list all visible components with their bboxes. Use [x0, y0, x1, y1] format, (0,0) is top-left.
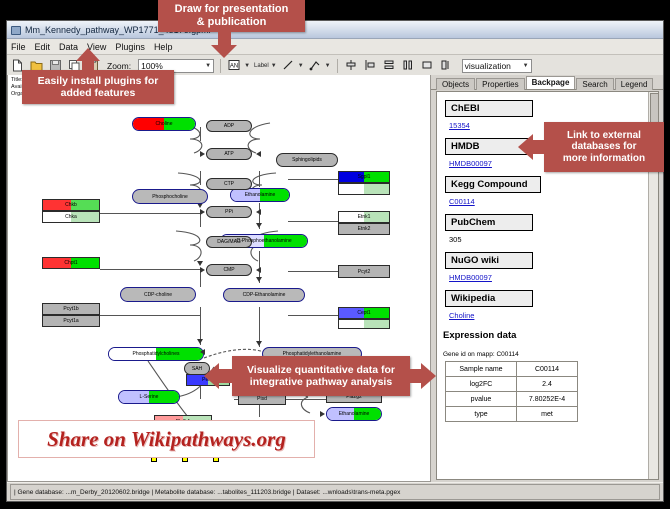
- gene-label: Pcyt1a: [63, 318, 78, 324]
- callout-line: more information: [563, 153, 645, 165]
- callout-line: added features: [61, 87, 136, 99]
- node-label: PPi: [225, 209, 233, 215]
- gene-box-chpt1[interactable]: Chpt1: [42, 257, 100, 269]
- node-l-serine-left[interactable]: L-Serine: [118, 390, 180, 404]
- node-cdp-ethanolamine[interactable]: CDP-Ethanolamine: [223, 288, 305, 302]
- node-ethanolamine-bottom[interactable]: Ethanolamine: [326, 407, 382, 421]
- db-header-nugo: NuGO wiki: [445, 252, 533, 269]
- toolbar-separator: [220, 59, 221, 73]
- node-label: O-Phosphoethanolamine: [236, 238, 291, 244]
- gene-box-pcyt1b[interactable]: Pcyt1b: [42, 303, 100, 315]
- node-ppi[interactable]: PPi: [206, 206, 252, 218]
- align-left-icon[interactable]: [363, 58, 378, 73]
- table-row: log2FC 2.4: [446, 377, 578, 392]
- node-choline-top[interactable]: Choline: [132, 117, 196, 131]
- svg-text:AN: AN: [230, 64, 238, 70]
- gene-label: Chkb: [65, 202, 77, 208]
- callout-visualize-stem-right: [408, 369, 422, 383]
- gene-label: Pcyt2: [358, 269, 371, 275]
- side-tabs: Objects Properties Backpage Search Legen…: [431, 75, 663, 90]
- expr-value: 2.4: [517, 377, 578, 392]
- table-row: Sample name C00114: [446, 362, 578, 377]
- gene-label: Etnk1: [358, 214, 371, 220]
- sgpl1-lower-down-half: [339, 184, 364, 194]
- db-block-nugo: NuGO wiki HMDB00097: [445, 250, 658, 282]
- gene-label: Pcyt1b: [63, 306, 78, 312]
- gene-box-chka[interactable]: Chka: [42, 211, 100, 223]
- gene-label: Etnk2: [358, 226, 371, 232]
- callout-visualize-stem-left: [218, 369, 234, 383]
- text-format-icon[interactable]: AN: [227, 58, 242, 73]
- chevron-down-icon: ▼: [523, 63, 529, 69]
- expr-key: Sample name: [446, 362, 517, 377]
- gene-box-sgpl1[interactable]: Sgpl1: [338, 171, 390, 183]
- interaction-icon[interactable]: [308, 58, 323, 73]
- gene-box-pcyt1a[interactable]: Pcyt1a: [42, 315, 100, 327]
- db-header-kegg: Kegg Compound: [445, 176, 541, 193]
- arrow-left-icon: [256, 267, 261, 273]
- arrow-right-icon: [200, 267, 205, 273]
- gene-label: Chka: [65, 214, 77, 220]
- callout-link-stem: [532, 140, 546, 154]
- edge-etnk-connector: [288, 221, 338, 222]
- db-header-wikipedia: Wikipedia: [445, 290, 533, 307]
- node-label: CMP: [223, 267, 234, 273]
- menu-item-file[interactable]: File: [11, 42, 26, 52]
- db-link-nugo[interactable]: HMDB00097: [449, 273, 658, 282]
- db-header-pubchem: PubChem: [445, 214, 533, 231]
- tab-legend[interactable]: Legend: [615, 78, 654, 90]
- callout-line: Visualize quantitative data for: [247, 364, 395, 376]
- edge-sphingo-ethanolamine: [259, 171, 260, 187]
- arrow-down-icon: [256, 341, 262, 346]
- callout-draw-for-presentation: Draw for presentation & publication: [158, 0, 305, 32]
- callout-link-arrow-left: [518, 134, 533, 160]
- table-row: pvalue 7.80252E-4: [446, 392, 578, 407]
- cept1-lower-down-half: [339, 320, 364, 328]
- db-link-wikipedia[interactable]: Choline: [449, 311, 658, 320]
- node-label: Choline: [156, 121, 173, 127]
- expr-key: log2FC: [446, 377, 517, 392]
- node-label: L-Serine: [140, 394, 159, 400]
- arrow-left-icon: [200, 349, 205, 355]
- node-adp[interactable]: ADP: [206, 120, 252, 132]
- callout-line: Draw for presentation: [175, 3, 289, 16]
- edge-pla2g2-connector: [284, 399, 328, 400]
- node-label: DAG/MAG: [217, 239, 241, 245]
- expression-data-title: Expression data: [443, 330, 658, 341]
- expr-value: 7.80252E-4: [517, 392, 578, 407]
- edge-choline-phosphocholine: [200, 171, 201, 185]
- db-block-pubchem: PubChem 305: [445, 212, 658, 244]
- edge-choline-down: [200, 127, 201, 141]
- node-ctp[interactable]: CTP: [206, 178, 252, 190]
- db-header-chebi: ChEBI: [445, 100, 533, 117]
- node-cmp[interactable]: CMP: [206, 264, 252, 276]
- status-bar: | Gene database: ...m_Derby_20120602.bri…: [7, 482, 663, 501]
- menu-item-edit[interactable]: Edit: [35, 42, 51, 52]
- app-icon: [10, 24, 21, 35]
- sgpl1-lower-up-half: [364, 184, 389, 194]
- edge-pcyt2-connector: [288, 271, 338, 272]
- callout-easily-install-plugins: Easily install plugins for added feature…: [22, 70, 174, 104]
- label-tool-group[interactable]: Label ▼: [254, 63, 277, 69]
- node-label: ATP: [224, 151, 233, 157]
- callout-plugins-arrow-up: [76, 48, 100, 61]
- callout-visualize-quantitative-data: Visualize quantitative data for integrat…: [232, 356, 410, 396]
- node-cdp-choline[interactable]: CDP-choline: [120, 287, 196, 302]
- chevron-down-icon[interactable]: ▼: [271, 63, 277, 69]
- expr-value: C00114: [517, 362, 578, 377]
- gene-label: Cept1: [357, 310, 370, 316]
- db-value-pubchem: 305: [449, 235, 658, 244]
- zoom-value: 100%: [141, 61, 163, 71]
- tab-properties[interactable]: Properties: [476, 78, 524, 90]
- node-label: Sphingolipids: [292, 157, 322, 163]
- gene-box-sgpl1-lower[interactable]: [338, 183, 390, 195]
- node-ethanolamine-top[interactable]: Ethanolamine: [230, 188, 290, 202]
- node-label: Phosphocholine: [152, 194, 188, 200]
- text-tool-group[interactable]: AN ▼: [227, 58, 250, 73]
- node-label: CDP-choline: [144, 292, 172, 298]
- node-phosphocholine[interactable]: Phosphocholine: [132, 189, 208, 204]
- status-text: | Gene database: ...m_Derby_20120602.bri…: [10, 484, 660, 500]
- gene-box-cept1-lower[interactable]: [338, 319, 390, 329]
- node-label: SAH: [192, 366, 202, 372]
- edge-chpt1-connector: [100, 269, 200, 270]
- expression-table: Sample name C00114 log2FC 2.4 pvalue 7.8…: [445, 361, 578, 422]
- node-label: CDP-Ethanolamine: [243, 292, 286, 298]
- chevron-down-icon[interactable]: ▼: [298, 63, 304, 69]
- gene-box-chkb[interactable]: Chkb: [42, 199, 100, 211]
- callout-draw-arrow-down: [211, 45, 237, 58]
- callout-line: Link to external: [567, 130, 641, 142]
- arrow-left-icon: [256, 151, 261, 157]
- tab-backpage[interactable]: Backpage: [526, 76, 576, 89]
- node-atp[interactable]: ATP: [206, 148, 252, 160]
- callout-line: & publication: [197, 16, 267, 29]
- callout-link-to-external-databases: Link to external databases for more info…: [544, 122, 664, 172]
- visualization-combo[interactable]: visualization ▼: [462, 59, 532, 73]
- table-row: type met: [446, 407, 578, 422]
- menu-bar: File Edit Data View Plugins Help: [7, 39, 663, 55]
- edge-chk-connector: [100, 213, 200, 214]
- gene-id-line: Gene id on mapp: C00114: [443, 351, 658, 358]
- node-label: ADP: [224, 123, 234, 129]
- cept1-lower-up-half: [364, 320, 389, 328]
- interaction-tool-group[interactable]: ▼: [308, 58, 331, 73]
- line-tool-group[interactable]: ▼: [281, 58, 304, 73]
- callout-visualize-arrow-left: [204, 363, 219, 389]
- arrow-down-icon: [256, 223, 262, 228]
- callout-line: databases for: [571, 141, 636, 153]
- label-tool-label: Label: [254, 63, 269, 69]
- db-link-kegg[interactable]: C00114: [449, 197, 658, 206]
- tab-objects[interactable]: Objects: [436, 78, 475, 90]
- node-label: CTP: [224, 181, 234, 187]
- gene-box-etnk2[interactable]: Etnk2: [338, 223, 390, 235]
- expr-key: type: [446, 407, 517, 422]
- node-label: Ethanolamine: [245, 192, 276, 198]
- node-sphingolipids[interactable]: Sphingolipids: [276, 153, 338, 167]
- gene-box-cept1[interactable]: Cept1: [338, 307, 390, 319]
- callout-line: integrative pathway analysis: [250, 376, 392, 388]
- gene-label: Sgpl1: [358, 174, 371, 180]
- callout-draw-stem: [218, 32, 231, 46]
- callout-line: Easily install plugins for: [38, 75, 159, 87]
- group-icon[interactable]: [420, 58, 435, 73]
- arrow-right-icon: [320, 411, 325, 417]
- arrow-down-icon: [197, 339, 203, 344]
- chevron-down-icon[interactable]: ▼: [244, 63, 250, 69]
- arrow-left-icon: [256, 209, 261, 215]
- node-phosphatidylcholines[interactable]: Phosphatidylcholines: [108, 347, 204, 361]
- visualization-value: visualization: [465, 61, 511, 71]
- node-label: Phosphatidylcholines: [133, 351, 180, 357]
- edge-sgpl1-connector: [288, 179, 338, 180]
- align-center-icon[interactable]: [344, 58, 359, 73]
- gene-label: Pisd: [257, 396, 267, 402]
- expr-value: met: [517, 407, 578, 422]
- tab-search[interactable]: Search: [576, 78, 613, 90]
- arrow-right-icon: [200, 151, 205, 157]
- chevron-down-icon[interactable]: ▼: [325, 63, 331, 69]
- expr-key: pvalue: [446, 392, 517, 407]
- distribute-vertical-icon[interactable]: [382, 58, 397, 73]
- edge-cept1-connector: [288, 315, 338, 316]
- menu-item-plugins[interactable]: Plugins: [115, 42, 145, 52]
- title-bar: Mm_Kennedy_pathway_WP1771_45176.gpml: [7, 21, 663, 39]
- screenshot-root: Mm_Kennedy_pathway_WP1771_45176.gpml Fil…: [0, 0, 670, 509]
- distribute-horizontal-icon[interactable]: [401, 58, 416, 73]
- arrow-down-icon: [197, 261, 203, 266]
- chevron-down-icon: ▼: [205, 63, 211, 69]
- menu-item-help[interactable]: Help: [154, 42, 173, 52]
- arrow-right-icon: [200, 209, 205, 215]
- callout-plugins-stem: [82, 60, 94, 72]
- arrow-down-icon: [256, 277, 262, 282]
- callout-share-on-wikipathways: Share on Wikipathways.org: [18, 420, 315, 458]
- line-icon[interactable]: [281, 58, 296, 73]
- share-text: Share on Wikipathways.org: [47, 427, 286, 452]
- gene-box-etnk1[interactable]: Etnk1: [338, 211, 390, 223]
- toolbar-separator: [337, 59, 338, 73]
- zoom-label: Zoom:: [107, 61, 131, 71]
- callout-visualize-arrow-right: [421, 363, 436, 389]
- db-block-wikipedia: Wikipedia Choline: [445, 288, 658, 320]
- db-block-kegg: Kegg Compound C00114: [445, 174, 658, 206]
- edge-pcyt1-connector: [100, 315, 200, 316]
- node-label: Ethanolamine: [339, 411, 370, 417]
- bring-to-front-icon[interactable]: [439, 58, 454, 73]
- gene-box-pcyt2[interactable]: Pcyt2: [338, 265, 390, 278]
- gene-label: Chpt1: [64, 260, 77, 266]
